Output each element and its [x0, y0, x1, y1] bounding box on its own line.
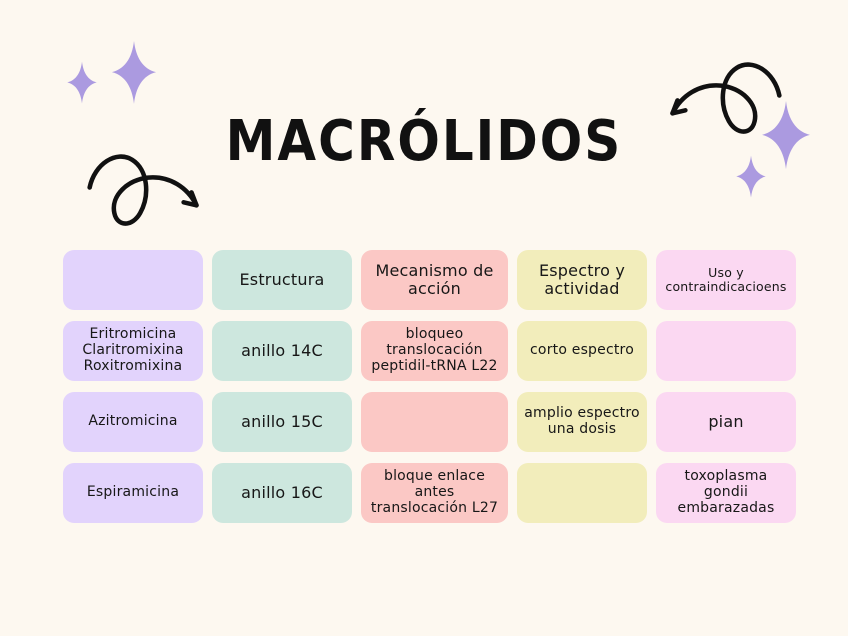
table-cell-r2-estructura: anillo 15C: [212, 392, 352, 452]
table-cell-r3-espectro: [517, 463, 647, 523]
table-cell-r1-uso: [656, 321, 796, 381]
table-cell-r3-mecanismo: bloque enlace antes translocación L27: [361, 463, 508, 523]
table-cell-r1-estructura: anillo 14C: [212, 321, 352, 381]
table-cell-r2-farmaco: Azitromicina: [63, 392, 203, 452]
table-header-mecanismo: Mecanismo de acción: [361, 250, 508, 310]
table-cell-r1-farmaco: Eritromicina Claritromixina Roxitromixin…: [63, 321, 203, 381]
table-cell-r1-mecanismo: bloqueo translocación peptidil-tRNA L22: [361, 321, 508, 381]
table-cell-r3-uso: toxoplasma gondii embarazadas: [656, 463, 796, 523]
sparkle-large-top-left-icon: [110, 40, 158, 105]
macrolides-table: EstructuraMecanismo de acciónEspectro y …: [63, 250, 796, 523]
page-title: MACRÓLIDOS: [226, 109, 623, 174]
table-header-uso: Uso y contraindicacioens: [656, 250, 796, 310]
table-cell-r3-estructura: anillo 16C: [212, 463, 352, 523]
table-cell-r3-farmaco: Espiramicina: [63, 463, 203, 523]
table-cell-r2-espectro: amplio espectro una dosis: [517, 392, 647, 452]
table-cell-r1-espectro: corto espectro: [517, 321, 647, 381]
table-cell-r2-uso: pian: [656, 392, 796, 452]
table-header-farmaco: [63, 250, 203, 310]
table-cell-r2-mecanismo: [361, 392, 508, 452]
title-container: MACRÓLIDOS: [0, 112, 848, 170]
table-header-estructura: Estructura: [212, 250, 352, 310]
sparkle-small-top-left-icon: [66, 61, 98, 104]
table-header-espectro: Espectro y actividad: [517, 250, 647, 310]
